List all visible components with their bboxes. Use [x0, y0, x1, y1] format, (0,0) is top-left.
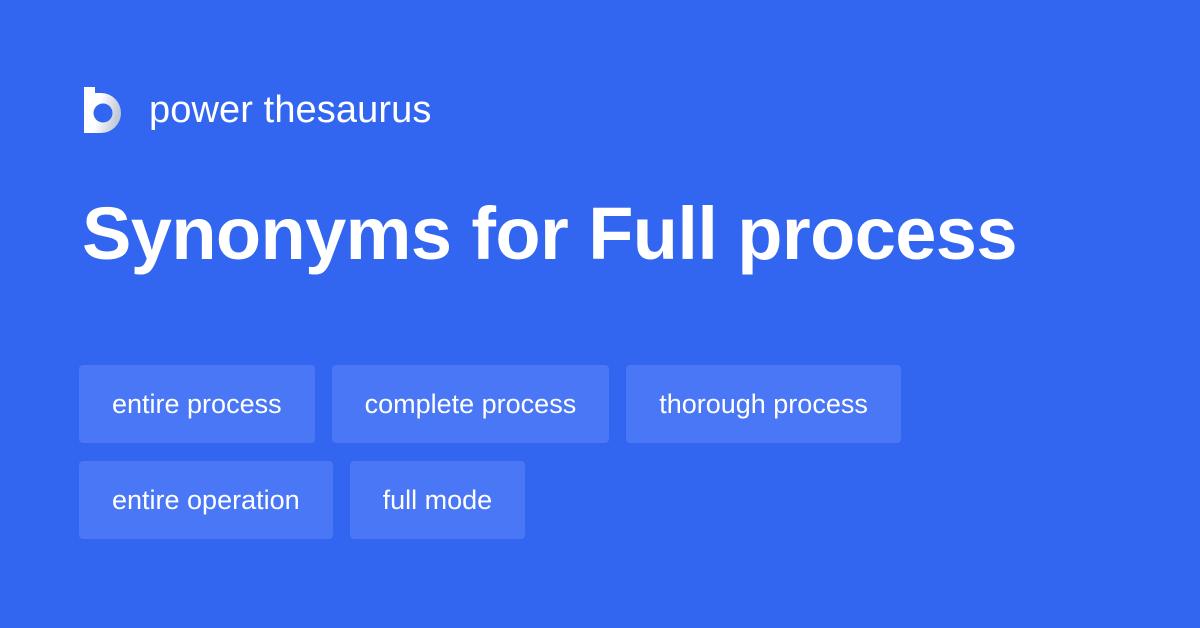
synonym-chip[interactable]: thorough process: [626, 365, 901, 443]
synonym-chip[interactable]: entire operation: [79, 461, 333, 539]
page-title-prefix: Synonyms for: [82, 192, 568, 275]
synonym-chip[interactable]: full mode: [350, 461, 526, 539]
power-thesaurus-b-logo-icon: [84, 87, 124, 133]
brand-lockup[interactable]: power thesaurus: [84, 82, 431, 138]
synonym-chip[interactable]: complete process: [332, 365, 610, 443]
brand-name: power thesaurus: [149, 91, 431, 129]
og-card: power thesaurus Synonyms for Full proces…: [0, 0, 1200, 628]
page-title: Synonyms for Full process: [82, 196, 1142, 273]
synonym-chip-list: entire process complete process thorough…: [79, 365, 1119, 539]
page-title-term: Full process: [588, 192, 1017, 275]
synonym-chip[interactable]: entire process: [79, 365, 315, 443]
